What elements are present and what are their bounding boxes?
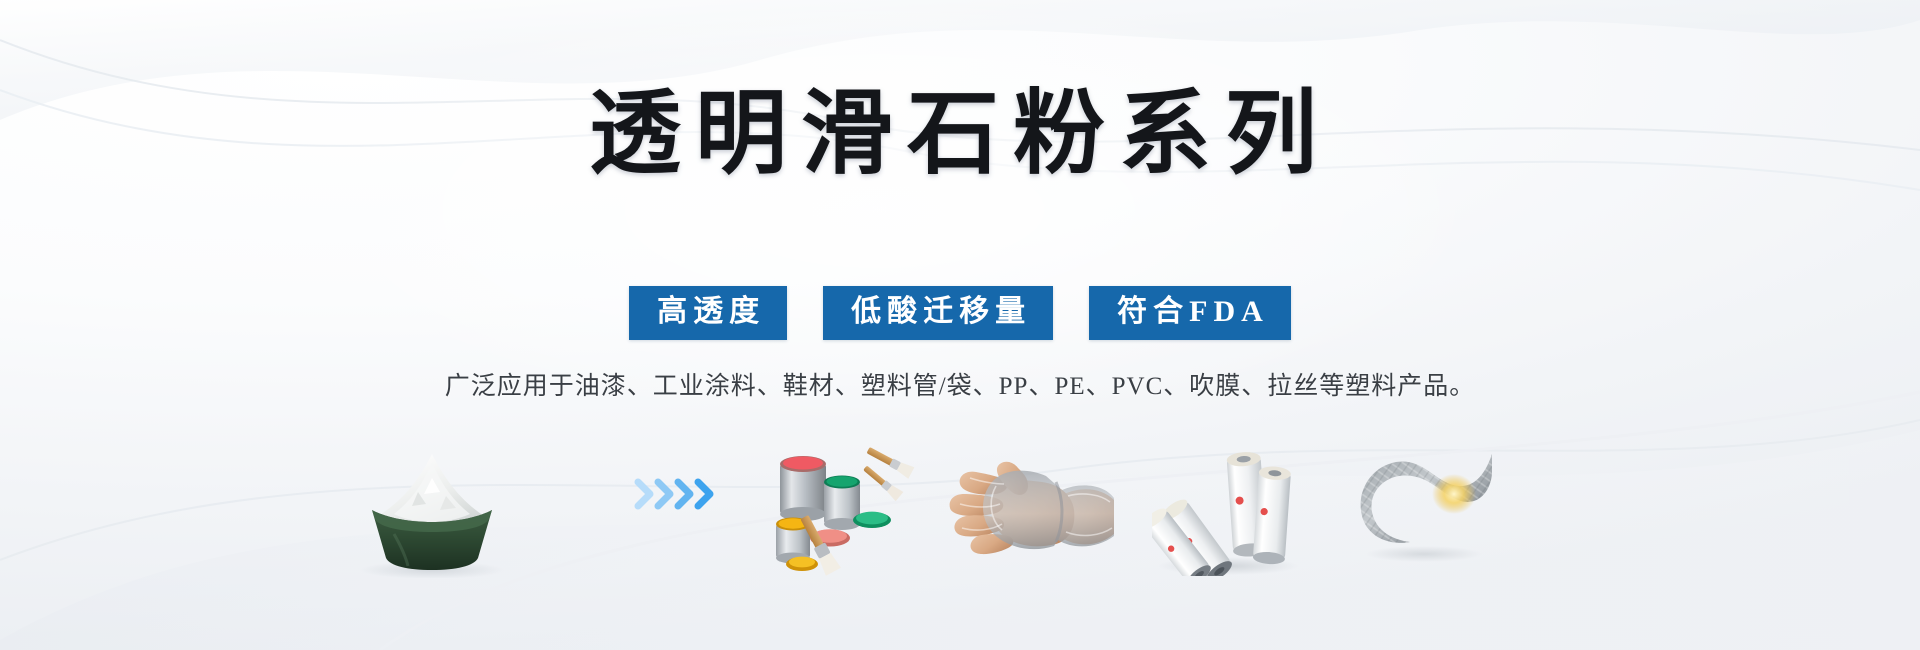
gloved-hand-icon	[946, 442, 1116, 572]
application-description: 广泛应用于油漆、工业涂料、鞋材、塑料管/袋、PP、PE、PVC、吹膜、拉丝等塑料…	[0, 370, 1920, 404]
application-illustration-strip	[0, 420, 1920, 600]
badge-fda-compliant: 符合FDA	[1089, 286, 1291, 340]
feature-badge-list: 高透度 低酸迁移量 符合FDA	[0, 286, 1920, 340]
talc-powder-bowl-icon	[332, 448, 532, 578]
badge-low-acid-migration: 低酸迁移量	[823, 286, 1053, 340]
page-title: 透明滑石粉系列	[0, 84, 1920, 184]
shoe-sole-icon	[1354, 450, 1494, 570]
product-banner: 透明滑石粉系列 高透度 低酸迁移量 符合FDA 广泛应用于油漆、工业涂料、鞋材、…	[0, 0, 1920, 650]
process-arrows-icon	[634, 472, 726, 516]
badge-high-transparency: 高透度	[629, 286, 787, 340]
film-rolls-icon	[1152, 446, 1312, 576]
paint-cans-icon	[766, 438, 916, 578]
